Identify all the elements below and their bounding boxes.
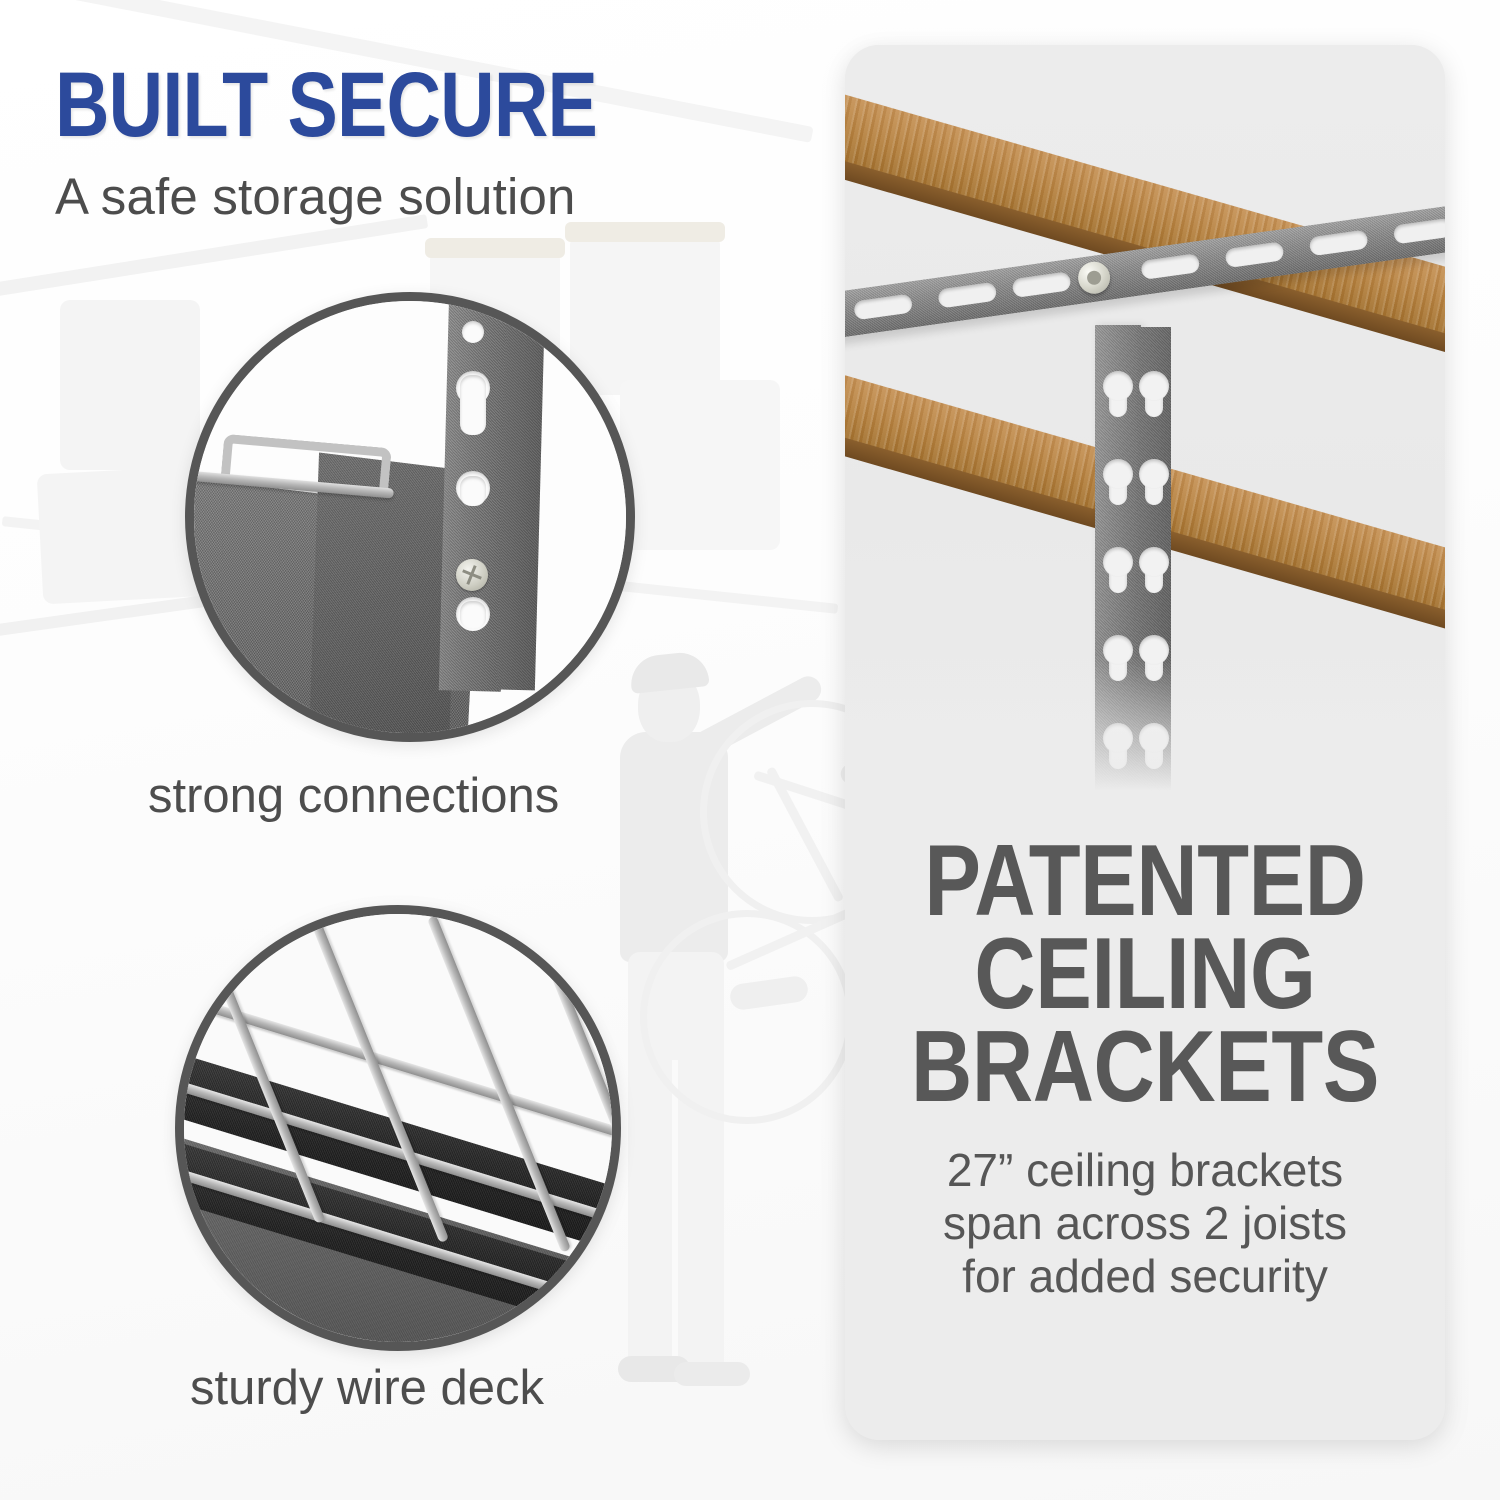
ceiling-bracket-photo bbox=[845, 45, 1445, 825]
bracket-slot bbox=[937, 282, 997, 309]
feature-circle-sturdy-wire-deck bbox=[175, 905, 621, 1351]
bracket-bolt-icon bbox=[1076, 260, 1112, 296]
headline-block: BUILT SECURE A safe storage solution bbox=[55, 62, 716, 226]
bracket-slot bbox=[1224, 241, 1284, 268]
card-heading-line-1: PATENTED bbox=[893, 835, 1397, 928]
photo-fade-overlay bbox=[845, 655, 1445, 825]
feature-caption-sturdy-wire-deck: sturdy wire deck bbox=[190, 1360, 544, 1416]
post-keyhole-slot bbox=[460, 375, 486, 435]
background-bin-lid bbox=[425, 238, 565, 258]
person-head bbox=[638, 668, 700, 742]
feature-circle-strong-connections bbox=[185, 292, 635, 742]
card-heading-line-2: CEILING bbox=[893, 928, 1397, 1021]
person-leg-gap bbox=[672, 1060, 678, 1360]
card-heading-line-3: BRACKETS bbox=[893, 1021, 1397, 1114]
background-shelf-upper bbox=[0, 214, 428, 300]
post-keyhole-slot bbox=[460, 476, 486, 506]
feature-caption-strong-connections: strong connections bbox=[148, 768, 559, 824]
person-shoe bbox=[618, 1356, 690, 1382]
bracket-slot bbox=[853, 293, 913, 320]
bracket-slot bbox=[1012, 271, 1072, 298]
wire-deck-photo bbox=[184, 914, 612, 1342]
product-feature-graphic: BUILT SECURE A safe storage solution str… bbox=[0, 0, 1500, 1500]
post-hole bbox=[462, 321, 484, 343]
background-person-silhouette bbox=[600, 640, 780, 1430]
bicycle-frame-bar bbox=[766, 766, 844, 903]
post-keyhole bbox=[1109, 465, 1127, 505]
card-description-line-3: for added security bbox=[845, 1250, 1445, 1303]
person-arm bbox=[690, 672, 826, 761]
bracket-slot bbox=[1140, 253, 1200, 280]
bicycle-pedal bbox=[729, 975, 810, 1012]
post-keyhole-slot bbox=[460, 601, 486, 629]
post-keyhole bbox=[1145, 377, 1163, 417]
bracket-slot bbox=[1309, 229, 1369, 256]
person-torso bbox=[620, 732, 728, 962]
page-subtitle: A safe storage solution bbox=[55, 167, 716, 226]
post-keyhole bbox=[1145, 553, 1163, 593]
background-storage-bin bbox=[620, 380, 780, 550]
card-text-block: PATENTED CEILING BRACKETS 27” ceiling br… bbox=[845, 835, 1445, 1304]
post-keyhole bbox=[1109, 377, 1127, 417]
patented-ceiling-brackets-card: PATENTED CEILING BRACKETS 27” ceiling br… bbox=[845, 45, 1445, 1440]
bracket-connection-photo bbox=[194, 301, 626, 733]
card-description-line-1: 27” ceiling brackets bbox=[845, 1144, 1445, 1197]
person-cap bbox=[628, 650, 709, 694]
person-shoe bbox=[674, 1362, 750, 1386]
page-title: BUILT SECURE bbox=[55, 62, 597, 149]
bicycle-wheel bbox=[640, 910, 854, 1124]
card-description: 27” ceiling brackets span across 2 joist… bbox=[845, 1144, 1445, 1304]
hex-screw-icon bbox=[456, 559, 488, 591]
background-storage-bin bbox=[60, 300, 200, 470]
post-keyhole bbox=[1109, 553, 1127, 593]
post-keyhole bbox=[1145, 465, 1163, 505]
card-description-line-2: span across 2 joists bbox=[845, 1197, 1445, 1250]
person-legs bbox=[628, 952, 724, 1372]
bracket-slot bbox=[1393, 218, 1445, 245]
